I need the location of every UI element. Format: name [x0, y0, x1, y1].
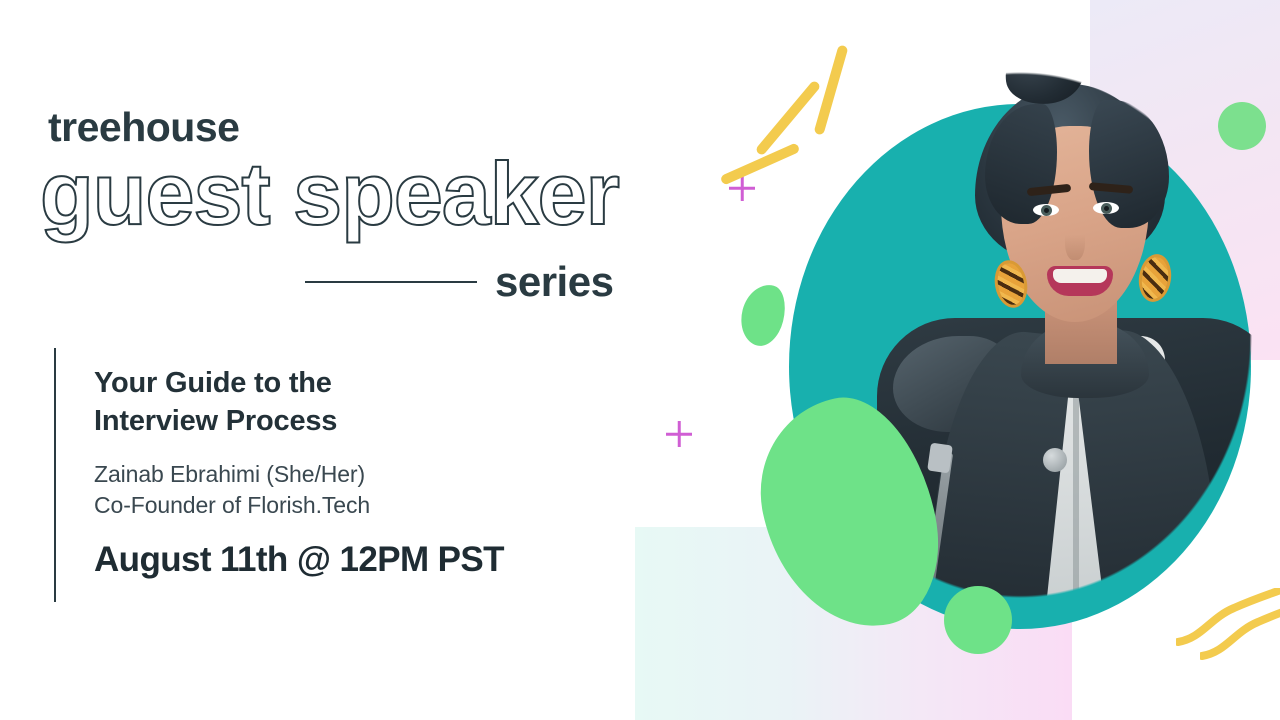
- session-title-line-1: Your Guide to the: [94, 364, 614, 402]
- session-details: Your Guide to the Interview Process Zain…: [54, 348, 614, 602]
- plus-icon: [666, 421, 692, 447]
- series-label: series: [495, 261, 613, 303]
- speaker-role: Co-Founder of Florish.Tech: [94, 490, 614, 521]
- nose: [1065, 218, 1085, 260]
- jacket-snap-button: [1043, 448, 1067, 472]
- promo-graphic: treehouse guest speaker series Your Guid…: [0, 0, 1280, 720]
- green-circle-small-icon: [1218, 102, 1266, 150]
- session-title-line-2: Interview Process: [94, 402, 614, 440]
- eye-right: [1093, 202, 1119, 214]
- series-divider: [305, 281, 477, 283]
- mouth: [1047, 266, 1113, 296]
- earring-right: [1136, 252, 1174, 304]
- speaker-name: Zainab Ebrahimi (She/Her): [94, 459, 614, 490]
- zipper-pull: [927, 443, 953, 474]
- green-bean-icon: [735, 280, 791, 350]
- series-row: series: [305, 256, 627, 308]
- session-datetime: August 11th @ 12PM PST: [94, 539, 614, 581]
- headline-outline: guest speaker: [40, 150, 619, 238]
- green-circle-icon: [944, 586, 1012, 654]
- session-title: Your Guide to the Interview Process: [94, 364, 614, 441]
- brand-wordmark: treehouse: [48, 107, 239, 148]
- wavy-line-icon: [1200, 602, 1280, 660]
- eye-left: [1033, 204, 1059, 216]
